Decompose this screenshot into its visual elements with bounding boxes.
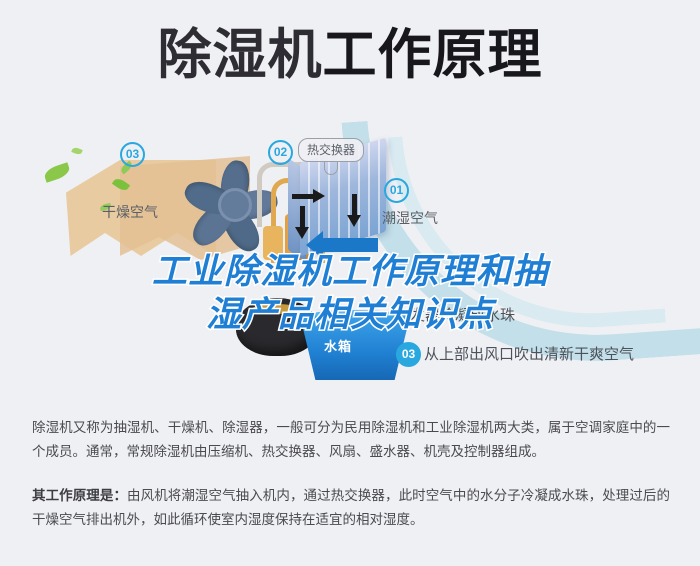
paragraph-1: 除湿机又称为抽湿机、干燥机、除湿器，一般可分为民用除湿机和工业除湿机两大类，属于… — [32, 416, 670, 464]
page-title-part2: 工作原理 — [323, 25, 543, 85]
fan-hub — [218, 188, 252, 222]
flow-arrow-icon — [352, 194, 357, 216]
flow-arrow-icon — [292, 194, 314, 199]
coil-fin — [348, 148, 350, 243]
coil-fin — [378, 139, 380, 234]
page-title-part1: 除湿机 — [158, 25, 323, 85]
badge-03: 03 — [120, 142, 145, 167]
step-03-badge: 03 — [396, 342, 421, 367]
heat-exchanger-callout: 热交换器 — [298, 138, 364, 162]
article-page: 除湿机工作原理 — [0, 0, 700, 566]
page-title: 除湿机工作原理 — [0, 22, 700, 88]
step-02-text: 发器冷凝成水珠 — [410, 304, 515, 325]
leaf-icon — [71, 146, 83, 155]
paragraph-2-lead: 其工作原理是： — [32, 488, 127, 503]
humid-air-label: 潮湿空气 — [382, 208, 438, 228]
leaf-icon — [43, 162, 72, 182]
water-tank — [300, 316, 410, 380]
article-body: 除湿机又称为抽湿机、干燥机、除湿器，一般可分为民用除湿机和工业除湿机两大类，属于… — [32, 416, 670, 552]
water-tank-label: 水箱 — [324, 336, 352, 355]
air-intake-arrow-icon — [322, 238, 378, 252]
badge-02: 02 — [268, 140, 293, 165]
paragraph-2-text: 由风机将潮湿空气抽入机内，通过热交换器，此时空气中的水分子冷凝成水珠，处理过后的… — [32, 488, 670, 527]
page-title-text: 除湿机工作原理 — [158, 22, 543, 88]
coil-fin — [338, 151, 340, 246]
dehumidifier-diagram: 水箱 热交换器 02 01 03 潮湿空气 干燥空气 发器冷凝成水珠 03 从上… — [0, 120, 700, 400]
flow-arrow-icon — [300, 206, 305, 228]
pipe-block — [263, 226, 283, 260]
dry-air-label: 干燥空气 — [102, 202, 158, 222]
paragraph-2: 其工作原理是：由风机将潮湿空气抽入机内，通过热交换器，此时空气中的水分子冷凝成水… — [32, 484, 670, 532]
coil-fin — [368, 142, 370, 237]
step-03-text: 从上部出风口吹出清新干爽空气 — [424, 343, 634, 364]
badge-01: 01 — [384, 178, 409, 203]
